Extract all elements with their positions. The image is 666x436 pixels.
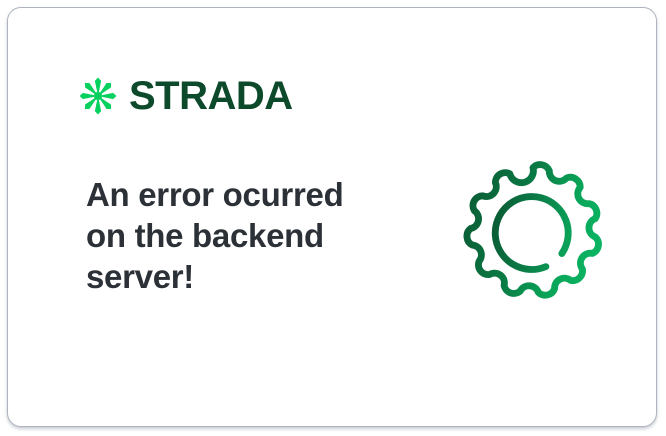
error-headline: An error ocurred on the backend server! <box>86 174 386 297</box>
brand-wordmark: STRADA <box>129 76 293 116</box>
error-card: STRADA An error ocurred on the backend s… <box>7 7 657 427</box>
brand-lockup: STRADA <box>77 72 293 120</box>
strada-asterisk-icon <box>77 75 119 117</box>
